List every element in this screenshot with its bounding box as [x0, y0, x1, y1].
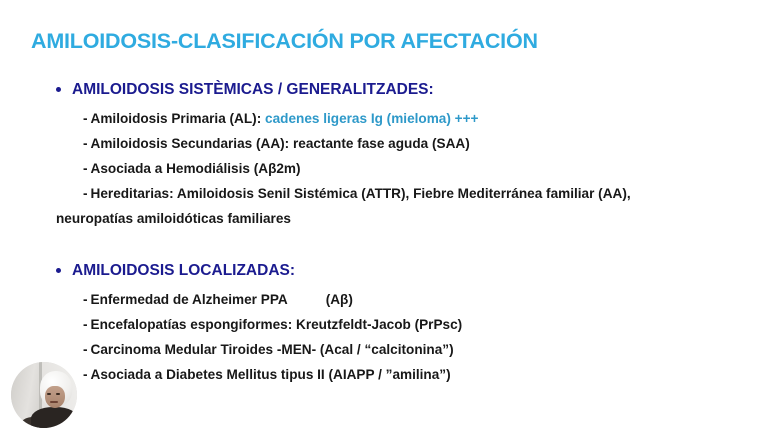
item-dash: -: [83, 312, 88, 337]
presentation-slide: AMILOIDOSIS-CLASIFICACIÓN POR AFECTACIÓN…: [0, 0, 768, 432]
item-accent-text: cadenes ligeras Ig (mieloma) +++: [265, 111, 478, 126]
list-item: -Encefalopatías espongiformes: Kreutzfel…: [0, 312, 768, 337]
list-item: -Asociada a Diabetes Mellitus tipus II (…: [0, 362, 768, 387]
item-dash: -: [83, 287, 88, 312]
item-text: Amiloidosis Secundarias (AA): reactante …: [91, 136, 470, 151]
item-text: Asociada a Diabetes Mellitus tipus II (A…: [91, 367, 451, 382]
list-item: -Enfermedad de Alzheimer PPA(Aβ): [0, 287, 768, 312]
section-heading-label: AMILOIDOSIS LOCALIZADAS:: [72, 262, 295, 279]
item-dash: -: [83, 362, 88, 387]
slide-title: AMILOIDOSIS-CLASIFICACIÓN POR AFECTACIÓN: [31, 29, 538, 54]
item-dash: -: [83, 337, 88, 362]
bullet-dot-icon: [56, 268, 61, 273]
list-item: -Carcinoma Medular Tiroides -MEN- (Acal …: [0, 337, 768, 362]
bullet-dot-icon: [56, 87, 61, 92]
item-tab-text: (Aβ): [326, 292, 353, 307]
slide-body: AMILOIDOSIS SISTÈMICAS / GENERALITZADES:…: [0, 78, 768, 387]
avatar-shoulders: [31, 407, 77, 428]
item-dash: -: [83, 106, 88, 131]
item-text: Enfermedad de Alzheimer PPA: [91, 292, 288, 307]
section-sistemicas: AMILOIDOSIS SISTÈMICAS / GENERALITZADES:…: [0, 78, 768, 231]
section-heading-sistemicas: AMILOIDOSIS SISTÈMICAS / GENERALITZADES:: [0, 78, 768, 102]
item-dash: -: [83, 156, 88, 181]
list-item: -Amiloidosis Primaria (AL): cadenes lige…: [0, 106, 768, 131]
item-text: Amiloidosis Primaria (AL):: [91, 111, 262, 126]
section-localizadas: AMILOIDOSIS LOCALIZADAS: -Enfermedad de …: [0, 259, 768, 387]
list-item: -Hereditarias: Amiloidosis Senil Sistémi…: [0, 181, 768, 231]
list-item: -Amiloidosis Secundarias (AA): reactante…: [0, 131, 768, 156]
section-heading-localizadas: AMILOIDOSIS LOCALIZADAS:: [0, 259, 768, 283]
item-text: Encefalopatías espongiformes: Kreutzfeld…: [91, 317, 463, 332]
section-items-localizadas: -Enfermedad de Alzheimer PPA(Aβ) -Encefa…: [0, 287, 768, 387]
item-text: Carcinoma Medular Tiroides -MEN- (Acal /…: [91, 342, 454, 357]
item-text: Hereditarias: Amiloidosis Senil Sistémic…: [91, 186, 631, 201]
list-item: -Asociada a Hemodiálisis (Aβ2m): [0, 156, 768, 181]
section-items-sistemicas: -Amiloidosis Primaria (AL): cadenes lige…: [0, 106, 768, 231]
presenter-webcam-avatar[interactable]: [11, 362, 77, 428]
item-text: Asociada a Hemodiálisis (Aβ2m): [91, 161, 301, 176]
item-continuation-text: neuropatías amiloidóticas familiares: [56, 206, 768, 231]
item-dash: -: [83, 131, 88, 156]
section-heading-label: AMILOIDOSIS SISTÈMICAS / GENERALITZADES:: [72, 81, 434, 98]
avatar-eye-left: [47, 393, 51, 395]
item-dash: -: [83, 181, 88, 206]
avatar-mouth: [50, 401, 58, 403]
avatar-eye-right: [56, 393, 60, 395]
